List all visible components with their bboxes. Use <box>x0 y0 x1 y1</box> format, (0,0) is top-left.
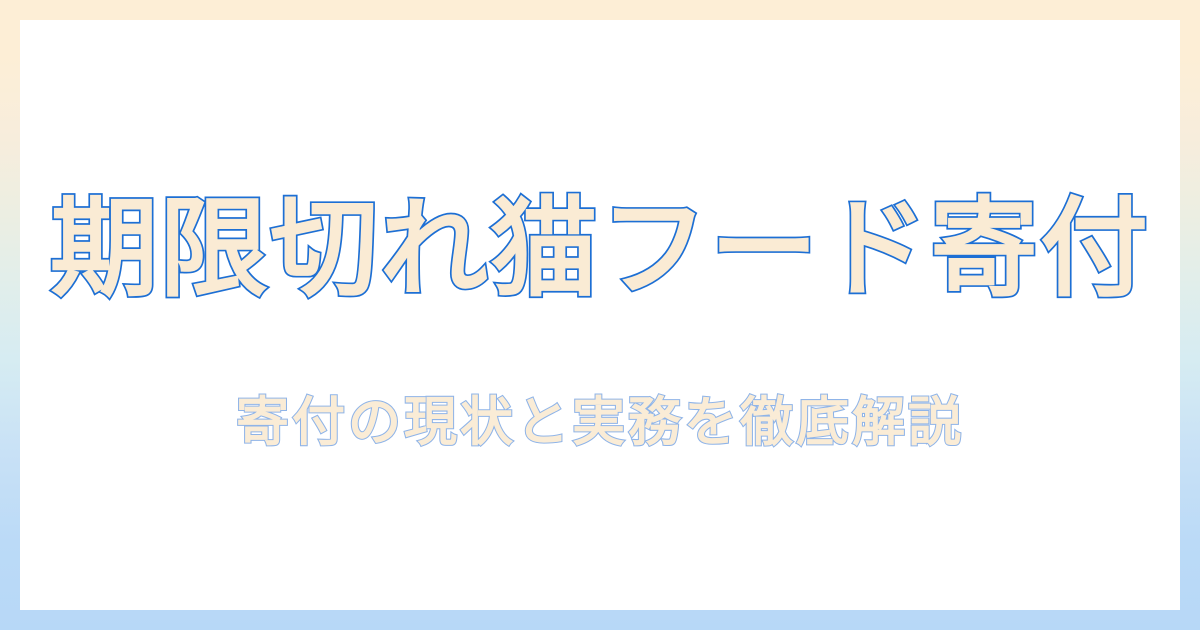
page-title: 期限切れ猫フード寄付 <box>20 186 1180 313</box>
subtitle-block: 寄付の現状と実務を徹底解説 <box>20 391 1180 455</box>
title-block: 期限切れ猫フード寄付 <box>20 186 1180 313</box>
page-subtitle: 寄付の現状と実務を徹底解説 <box>20 391 1180 455</box>
white-content-card: 期限切れ猫フード寄付 寄付の現状と実務を徹底解説 <box>20 20 1180 610</box>
og-image-canvas: 期限切れ猫フード寄付 寄付の現状と実務を徹底解説 <box>0 0 1200 630</box>
